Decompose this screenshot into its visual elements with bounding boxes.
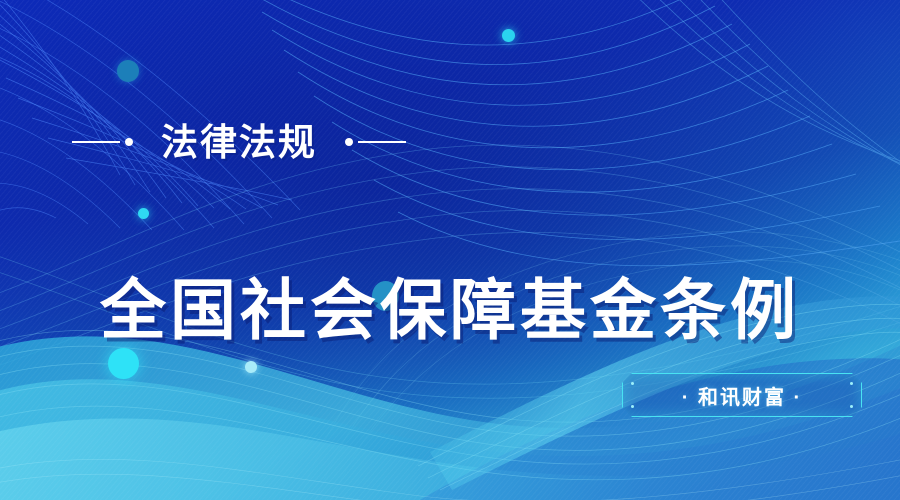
brand-badge[interactable]: · 和讯财富 ·: [622, 373, 862, 417]
decor-dot-cyan-left-icon: [138, 208, 149, 219]
sweep-arcs-mid: [0, 0, 900, 500]
badge-corner-tick-icon: [631, 405, 634, 408]
decor-dot-teal-icon: [117, 60, 139, 82]
banner-root: 法律法规 全国社会保障基金条例 · 和讯财富 ·: [0, 0, 900, 500]
horizontal-rule-icon: [72, 138, 133, 146]
page-title: 全国社会保障基金条例: [0, 276, 900, 345]
ribbon-right: [0, 0, 900, 500]
mesh-net-topleft: [0, 0, 900, 500]
hatch-texture-overlay: [0, 0, 900, 500]
subtitle-row: 法律法规: [72, 120, 406, 164]
flow-lines-topright: [0, 0, 900, 500]
subtitle-text: 法律法规: [161, 124, 317, 161]
horizontal-rule-icon: [345, 138, 406, 146]
badge-corner-tick-icon: [850, 405, 853, 408]
badge-corner-tick-icon: [631, 382, 634, 385]
background-gradient-layer: [0, 0, 900, 500]
decor-dot-pale-icon: [245, 361, 257, 373]
decor-dot-cyan-large-icon: [108, 348, 139, 379]
badge-corner-tick-icon: [850, 382, 853, 385]
brand-badge-label: · 和讯财富 ·: [682, 381, 802, 410]
decor-dot-cyan-top-icon: [502, 29, 515, 42]
wave-bands-bottom: [0, 0, 900, 500]
